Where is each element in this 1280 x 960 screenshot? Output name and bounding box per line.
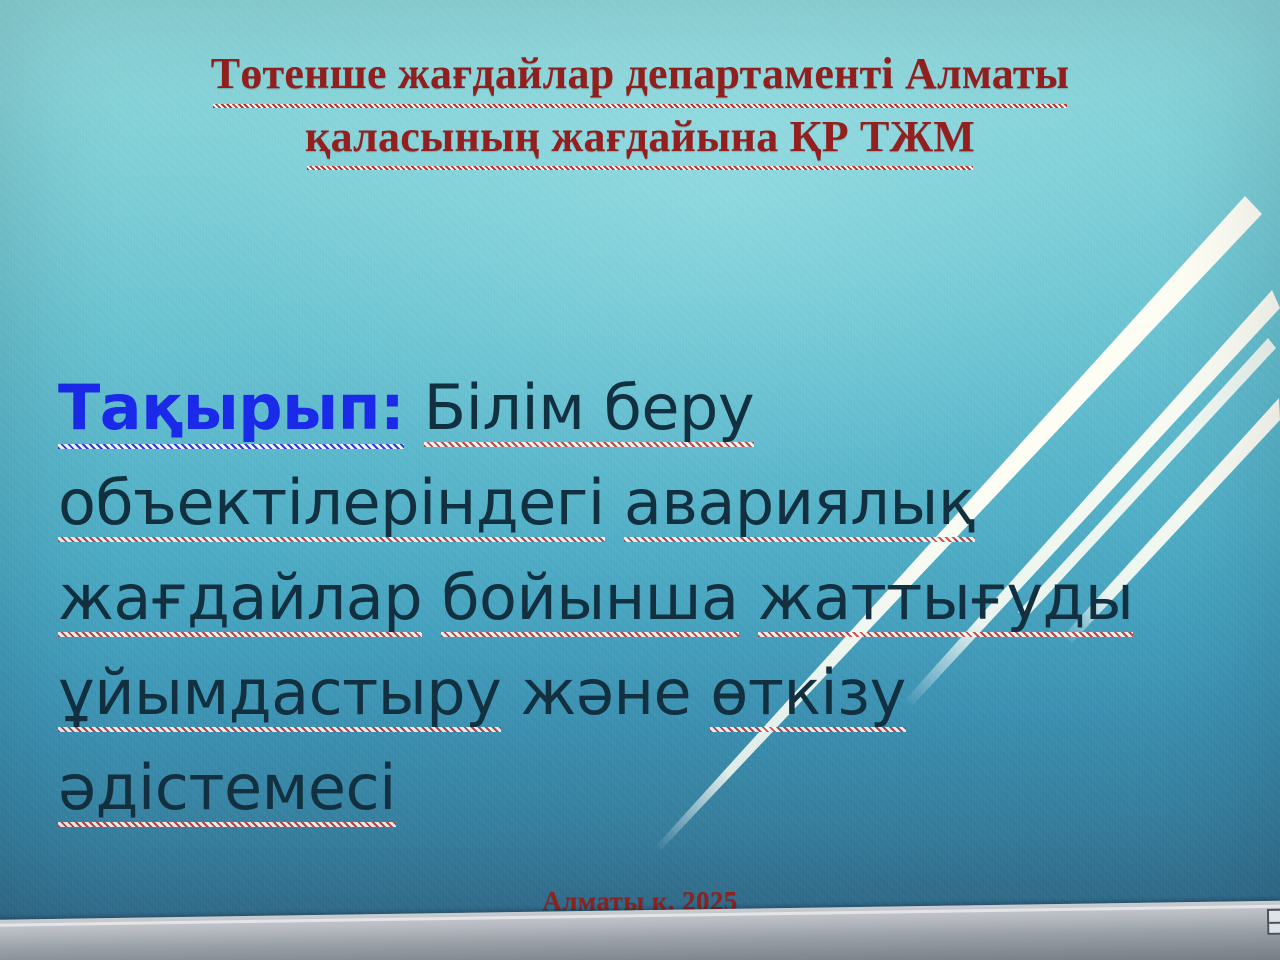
heading-line-2: қаласының жағдайына ҚР ТЖМ — [305, 107, 975, 170]
body-line-2: объектілеріндегі авариялық — [58, 455, 1258, 550]
body-line-3: жағдайлар бойынша жаттығуды — [58, 550, 1258, 645]
window-icon[interactable] — [1267, 909, 1280, 935]
body-line-4-seg-3: өткізу — [710, 645, 905, 740]
slide-heading: Төтенше жағдайлар департаменті Алматы қа… — [90, 44, 1190, 169]
body-line-4: ұйымдастыру және өткізу — [58, 645, 1258, 740]
body-line-5: әдістемесі — [58, 740, 1258, 835]
slide-body-text: Тақырып: Білім беру объектілеріндегі ава… — [58, 360, 1258, 835]
photographed-presentation-screen: Төтенше жағдайлар департаменті Алматы қа… — [0, 0, 1280, 960]
body-line-4-seg-1: ұйымдастыру — [58, 645, 501, 740]
slide-content: Төтенше жағдайлар департаменті Алматы қа… — [0, 0, 1280, 960]
body-line-2-seg-2: авариялық — [624, 455, 975, 550]
body-line-3-seg-1: жағдайлар — [58, 550, 422, 645]
body-line-4-seg-2: және — [521, 645, 692, 740]
body-line-1-text: Білім беру — [424, 360, 755, 455]
topic-label: Тақырып: — [58, 360, 404, 455]
body-line-3-seg-3: жаттығуды — [758, 550, 1134, 645]
body-line-1: Тақырып: Білім беру — [58, 360, 1258, 455]
heading-line-1: Төтенше жағдайлар департаменті Алматы — [211, 44, 1069, 107]
body-line-3-seg-2: бойынша — [441, 550, 738, 645]
body-line-5-seg-1: әдістемесі — [58, 740, 396, 835]
body-line-2-seg-1: объектілеріндегі — [58, 455, 605, 550]
